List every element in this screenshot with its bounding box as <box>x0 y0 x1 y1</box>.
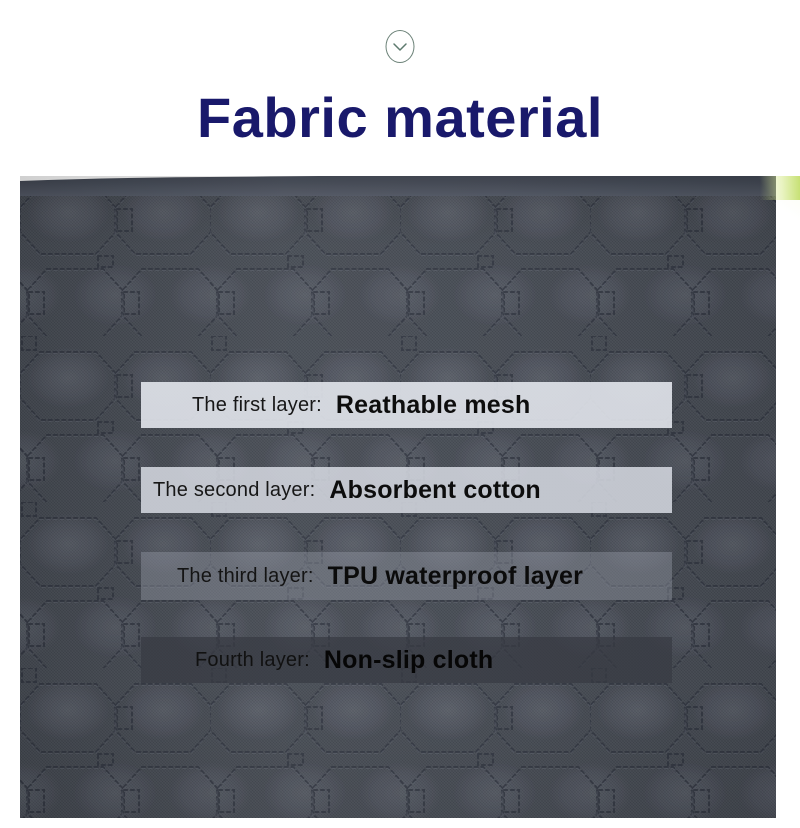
layer-prefix: The second layer: <box>153 479 315 502</box>
product-detail-page: Fabric material The first layer: Reathab… <box>0 0 800 828</box>
layer-prefix: Fourth layer: <box>195 649 310 672</box>
layer-row: The third layer: TPU waterproof layer <box>141 552 672 600</box>
layer-prefix: The third layer: <box>177 565 314 588</box>
bottom-white-strip <box>0 818 800 828</box>
layer-value: Non-slip cloth <box>324 646 493 675</box>
layer-row: The second layer: Absorbent cotton <box>141 467 672 513</box>
layer-value: TPU waterproof layer <box>328 562 583 591</box>
layer-row: The first layer: Reathable mesh <box>141 382 672 428</box>
layer-value: Absorbent cotton <box>329 476 541 505</box>
layer-prefix: The first layer: <box>192 394 322 417</box>
layer-list: The first layer: Reathable mesh The seco… <box>0 0 800 828</box>
layer-row: Fourth layer: Non-slip cloth <box>141 637 672 683</box>
layer-value: Reathable mesh <box>336 391 531 420</box>
